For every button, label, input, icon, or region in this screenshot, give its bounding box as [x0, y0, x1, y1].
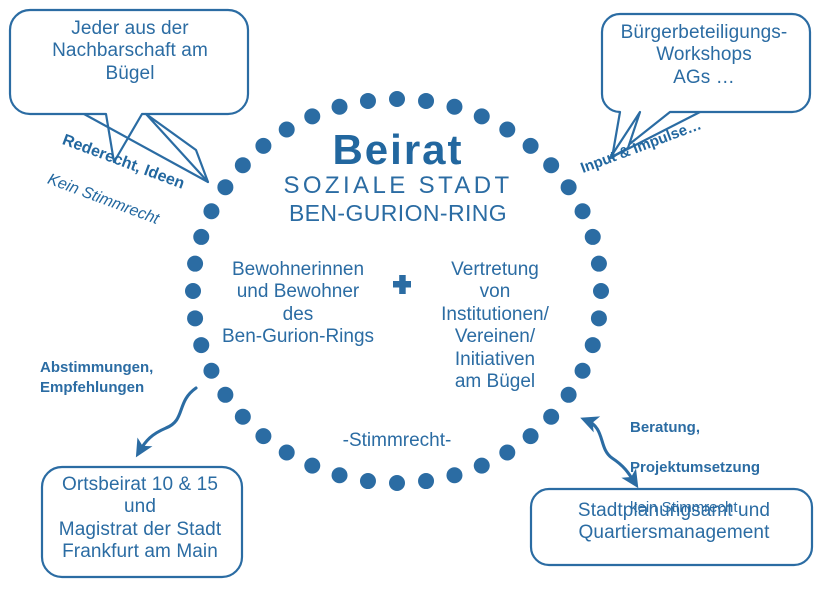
- ring-dot: [418, 93, 434, 109]
- ring-dot: [446, 467, 462, 483]
- members-column-institutions: Vertretung von Institutionen/ Vereinen/ …: [412, 259, 578, 393]
- ring-dot: [185, 283, 201, 299]
- ring-dot: [474, 458, 490, 474]
- annotation-beratung-line3: kein Stimmrecht: [630, 498, 815, 518]
- ring-dot: [499, 445, 515, 461]
- ring-dot: [593, 283, 609, 299]
- ring-dot: [304, 458, 320, 474]
- ring-dot: [418, 473, 434, 489]
- ring-dot: [591, 310, 607, 326]
- annotation-abstimmungen: Abstimmungen, Empfehlungen: [40, 358, 190, 398]
- ring-dot: [389, 475, 405, 491]
- ring-dot: [591, 256, 607, 272]
- box-bottom-left-text: Ortsbeirat 10 & 15 und Magistrat der Sta…: [36, 474, 244, 564]
- ring-dot: [193, 337, 209, 353]
- ring-dot: [523, 428, 539, 444]
- ring-dot: [360, 473, 376, 489]
- page-subtitle-2: BEN-GURION-RING: [210, 200, 586, 227]
- ring-dot: [474, 108, 490, 124]
- annotation-beratung-line2: Projektumsetzung: [630, 458, 815, 478]
- ring-dot: [332, 467, 348, 483]
- ring-dot: [187, 310, 203, 326]
- ring-dot: [446, 99, 462, 115]
- ring-dot: [279, 445, 295, 461]
- page-subtitle-1: SOZIALE STADT: [210, 172, 586, 200]
- arrow-beratung-bidirectional: [586, 420, 635, 483]
- ring-dot: [332, 99, 348, 115]
- ring-dot: [304, 108, 320, 124]
- diagram-canvas: Jeder aus der Nachbarschaft am Bügel Bür…: [0, 0, 820, 600]
- ring-dot: [255, 428, 271, 444]
- ring-dot: [235, 409, 251, 425]
- voting-rights-label: -Stimmrecht-: [297, 430, 497, 452]
- ring-dot: [217, 387, 233, 403]
- page-title: Beirat: [210, 125, 586, 175]
- annotation-beratung: Beratung, Projektumsetzung kein Stimmrec…: [630, 398, 815, 539]
- members-column-residents: Bewohnerinnen und Bewohner des Ben-Gurio…: [212, 259, 384, 349]
- ring-dot: [389, 91, 405, 107]
- ring-dot: [585, 337, 601, 353]
- bubble-top-right-text: Bürgerbeteiligungs- Workshops AGs …: [600, 22, 808, 89]
- ring-dot: [543, 409, 559, 425]
- ring-dot: [203, 363, 219, 379]
- bubble-top-left-text: Jeder aus der Nachbarschaft am Bügel: [22, 18, 238, 85]
- ring-dot: [360, 93, 376, 109]
- annotation-beratung-line1: Beratung,: [630, 418, 815, 438]
- ring-dot: [585, 229, 601, 245]
- plus-icon: [393, 275, 411, 294]
